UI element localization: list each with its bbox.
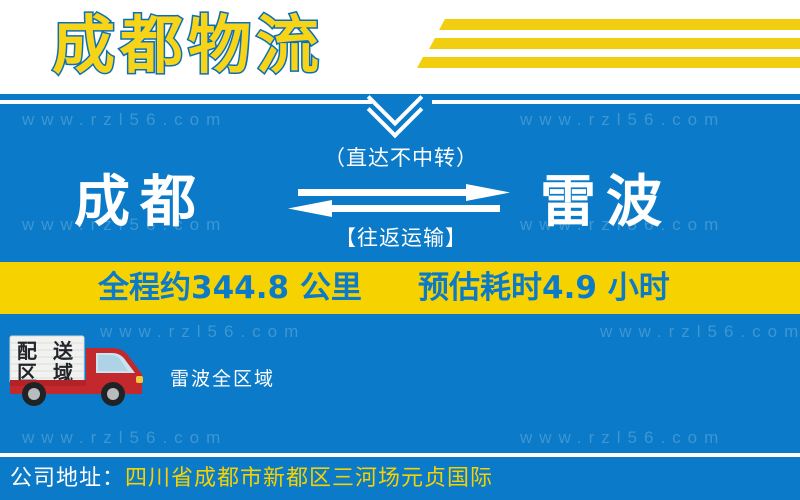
watermark: www.rzl56.com bbox=[520, 428, 725, 448]
origin-city: 成都 bbox=[74, 168, 206, 238]
logistics-poster: 成都物流 www.rzl56.com www.rzl56.com www.rzl… bbox=[0, 0, 800, 500]
double-arrow-icon bbox=[288, 182, 510, 220]
info-bar: 全程约344.8 公里 预估耗时4.9 小时 bbox=[0, 262, 800, 314]
watermark: www.rzl56.com bbox=[22, 428, 227, 448]
company-address: 公司地址：四川省成都市新都区三河场元贞国际 bbox=[10, 464, 493, 494]
route-note: （直达不中转） bbox=[296, 142, 506, 172]
footer-divider bbox=[0, 453, 800, 457]
route-mode: 【往返运输】 bbox=[296, 222, 506, 252]
address-value: 四川省成都市新都区三河场元贞国际 bbox=[125, 466, 493, 491]
page-title: 成都物流 bbox=[52, 4, 324, 88]
coverage-area-text: 雷波全区域 bbox=[170, 364, 275, 391]
watermark: www.rzl56.com bbox=[520, 110, 725, 130]
distance-text: 全程约344.8 公里 bbox=[98, 268, 362, 308]
truck-box-char-1: 配 bbox=[17, 339, 37, 363]
divider-line-left bbox=[0, 100, 372, 104]
decorative-stripe-1 bbox=[439, 19, 800, 30]
divider-line-right bbox=[432, 100, 800, 104]
arrow-right-icon bbox=[298, 184, 510, 201]
watermark: www.rzl56.com bbox=[22, 110, 227, 130]
arrow-left-icon bbox=[288, 200, 500, 217]
watermark: www.rzl56.com bbox=[600, 322, 800, 342]
destination-city: 雷波 bbox=[540, 168, 672, 238]
truck-box-char-2: 送 bbox=[53, 339, 74, 363]
delivery-truck-icon: 配 送 区 域 bbox=[8, 332, 154, 406]
decorative-stripe-2 bbox=[429, 38, 800, 49]
address-label: 公司地址： bbox=[10, 466, 125, 491]
decorative-stripe-3 bbox=[417, 57, 800, 68]
duration-text: 预估耗时4.9 小时 bbox=[418, 268, 670, 308]
